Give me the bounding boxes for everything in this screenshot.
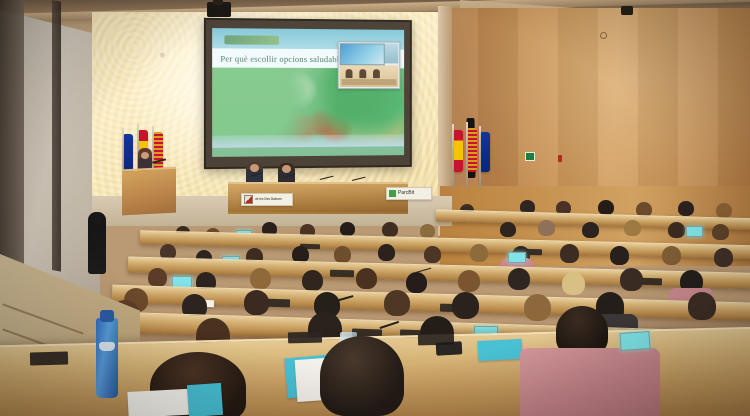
attendee-head	[424, 246, 441, 263]
attendee-head	[562, 272, 585, 295]
attendee-head	[508, 268, 530, 290]
govern-illes-balears-logo: de les Illes Balears	[241, 193, 293, 206]
attendee-head	[420, 224, 435, 238]
flag-european-union-right	[481, 132, 490, 172]
attendee-head	[452, 292, 479, 319]
attendee-head	[244, 290, 269, 315]
attendee-head	[678, 201, 694, 216]
slide: Per què escollir opcions saludables?	[212, 28, 404, 157]
parcbit-mark-icon	[389, 190, 396, 197]
attendee-head	[340, 222, 355, 236]
standing-attendee	[88, 212, 106, 274]
wall-fixture-icon	[600, 32, 607, 39]
attendee-head	[688, 292, 716, 320]
desk-control-panel	[288, 332, 322, 344]
attendee-head	[378, 244, 395, 261]
attendee-laptop	[686, 226, 703, 237]
lectern	[122, 167, 176, 216]
attendee-head	[356, 268, 377, 289]
picture-in-picture-feed	[338, 41, 401, 89]
attendee-head	[524, 294, 551, 321]
wall-indicator-icon	[558, 155, 562, 162]
attendee-head	[560, 244, 579, 263]
attendee-head	[384, 290, 410, 316]
smartphone	[436, 341, 463, 355]
attendee-head	[610, 246, 629, 265]
attendee-head	[712, 224, 729, 240]
pip-slide-thumb	[340, 43, 385, 65]
foreground-attendee-head	[320, 336, 404, 416]
parcbit-logo-text: ParcBit	[398, 191, 414, 196]
attendee-laptop	[508, 252, 526, 263]
foreground-folder-left	[187, 383, 223, 416]
water-bottle-label	[99, 342, 115, 351]
exit-sign-icon	[525, 152, 535, 161]
attendee-head	[458, 270, 480, 292]
attendee-head	[470, 244, 488, 262]
attendee-head	[662, 246, 681, 265]
ceiling-camera-icon	[621, 6, 633, 15]
foreground-attendee-body-right	[520, 348, 660, 416]
attendee-head	[302, 270, 323, 291]
attendee-head	[714, 248, 733, 267]
slide-title: Per què escollir opcions saludables?	[212, 53, 350, 64]
attendee-head	[538, 220, 555, 236]
attendee-head	[716, 203, 732, 218]
attendee-head	[250, 268, 271, 289]
pip-room-view	[340, 65, 399, 87]
parcbit-logo: ParcBit	[386, 187, 432, 200]
turquoise-folder-right	[478, 339, 523, 361]
pip-side-panel	[385, 44, 399, 64]
desk-control-panel	[330, 270, 354, 278]
projection-screen-surface: Per què escollir opcions saludables?	[212, 28, 404, 157]
attendee-phone-screen	[619, 331, 650, 351]
attendee-head	[382, 222, 398, 237]
auditorium-photo: Per què escollir opcions saludables?	[0, 0, 750, 416]
attendee-head	[620, 268, 643, 291]
flag-illes-balears-right	[468, 128, 477, 172]
attendee-head	[406, 272, 427, 293]
attendee-head	[598, 200, 614, 215]
attendee-head	[500, 222, 516, 237]
projection-screen: Per què escollir opcions saludables?	[204, 18, 412, 169]
ceiling-projector-icon	[207, 2, 231, 17]
attendee-head	[582, 222, 599, 238]
attendee-head	[334, 246, 351, 263]
pillar-left	[52, 0, 61, 272]
water-bottle-cap	[100, 310, 114, 322]
attendee-head	[148, 268, 167, 287]
govern-crest-icon	[244, 195, 253, 204]
govern-logo-text: de les Illes Balears	[255, 198, 282, 201]
desk-control-panel	[30, 352, 68, 366]
flag-spain-right	[454, 130, 463, 172]
attendee-head	[624, 220, 641, 236]
water-bottle	[96, 318, 118, 398]
attendee-head	[668, 222, 685, 238]
